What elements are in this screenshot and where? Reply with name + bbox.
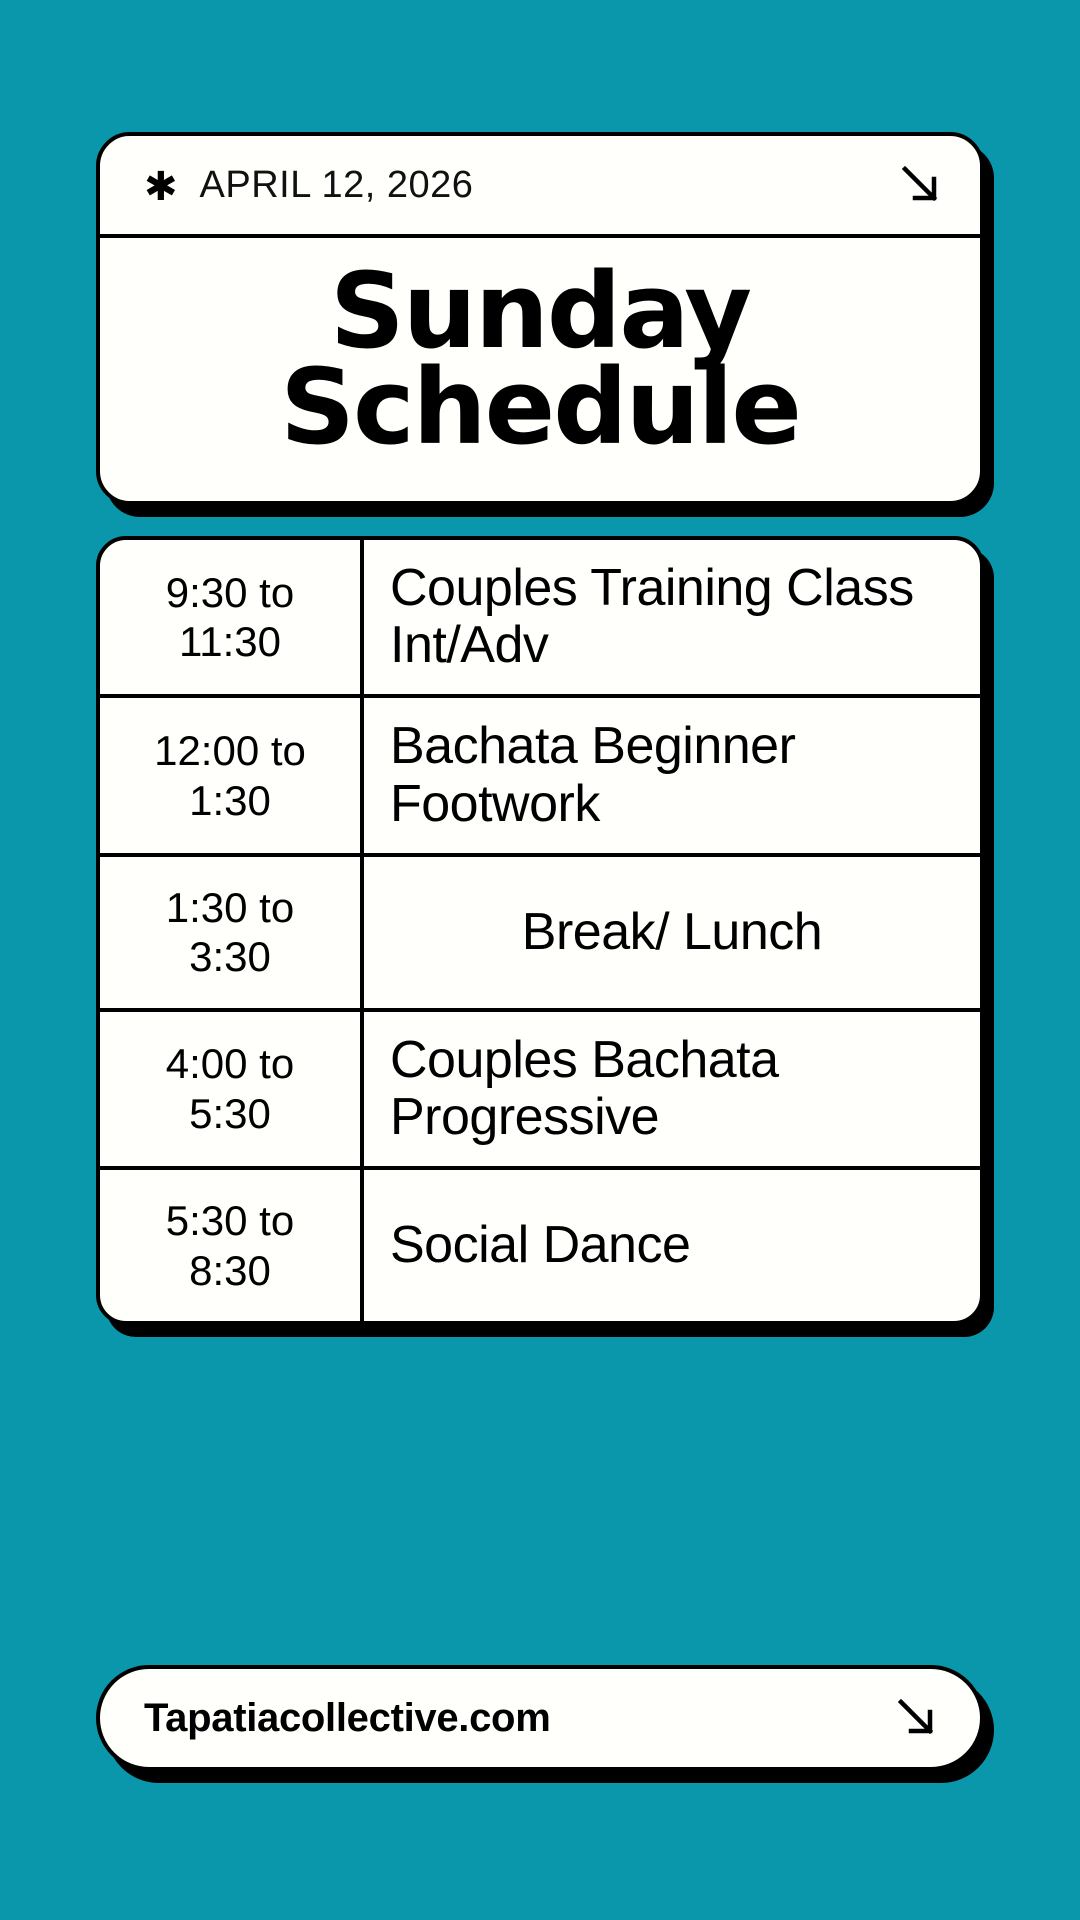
- schedule-poster: ✱ APRIL 12, 2026 Sunday Schedule 9:30 to…: [0, 0, 1080, 1920]
- table-row[interactable]: 1:30 to 3:30 Break/ Lunch: [100, 855, 980, 1010]
- title-area: Sunday Schedule: [100, 238, 980, 501]
- website-label: Tapatiacollective.com: [144, 1696, 550, 1741]
- table-row[interactable]: 5:30 to 8:30 Social Dance: [100, 1168, 980, 1321]
- row-time: 5:30 to 8:30: [100, 1168, 362, 1321]
- row-time: 9:30 to 11:30: [100, 540, 362, 696]
- date-group: ✱ APRIL 12, 2026: [144, 164, 473, 207]
- row-activity: Couples Training Class Int/Adv: [362, 540, 980, 696]
- table-row[interactable]: 12:00 to 1:30 Bachata Beginner Footwork: [100, 696, 980, 854]
- date-bar: ✱ APRIL 12, 2026: [100, 136, 980, 238]
- row-activity: Couples Bachata Progressive: [362, 1010, 980, 1168]
- page-title: Sunday Schedule: [140, 264, 940, 455]
- row-time: 12:00 to 1:30: [100, 696, 362, 854]
- row-activity: Bachata Beginner Footwork: [362, 696, 980, 854]
- schedule-table-body: 9:30 to 11:30 Couples Training Class Int…: [100, 540, 980, 1321]
- table-row[interactable]: 4:00 to 5:30 Couples Bachata Progressive: [100, 1010, 980, 1168]
- date-label: APRIL 12, 2026: [200, 164, 474, 207]
- schedule-card: 9:30 to 11:30 Couples Training Class Int…: [96, 536, 984, 1325]
- footer-card[interactable]: Tapatiacollective.com: [96, 1665, 984, 1771]
- row-activity: Break/ Lunch: [362, 855, 980, 1010]
- table-row[interactable]: 9:30 to 11:30 Couples Training Class Int…: [100, 540, 980, 696]
- schedule-table: 9:30 to 11:30 Couples Training Class Int…: [100, 540, 980, 1321]
- arrow-down-right-icon[interactable]: [894, 1695, 940, 1741]
- header-card: ✱ APRIL 12, 2026 Sunday Schedule: [96, 132, 984, 505]
- row-time: 4:00 to 5:30: [100, 1010, 362, 1168]
- arrow-down-right-icon[interactable]: [898, 162, 944, 208]
- asterisk-star-icon: ✱: [144, 167, 178, 207]
- row-activity: Social Dance: [362, 1168, 980, 1321]
- row-time: 1:30 to 3:30: [100, 855, 362, 1010]
